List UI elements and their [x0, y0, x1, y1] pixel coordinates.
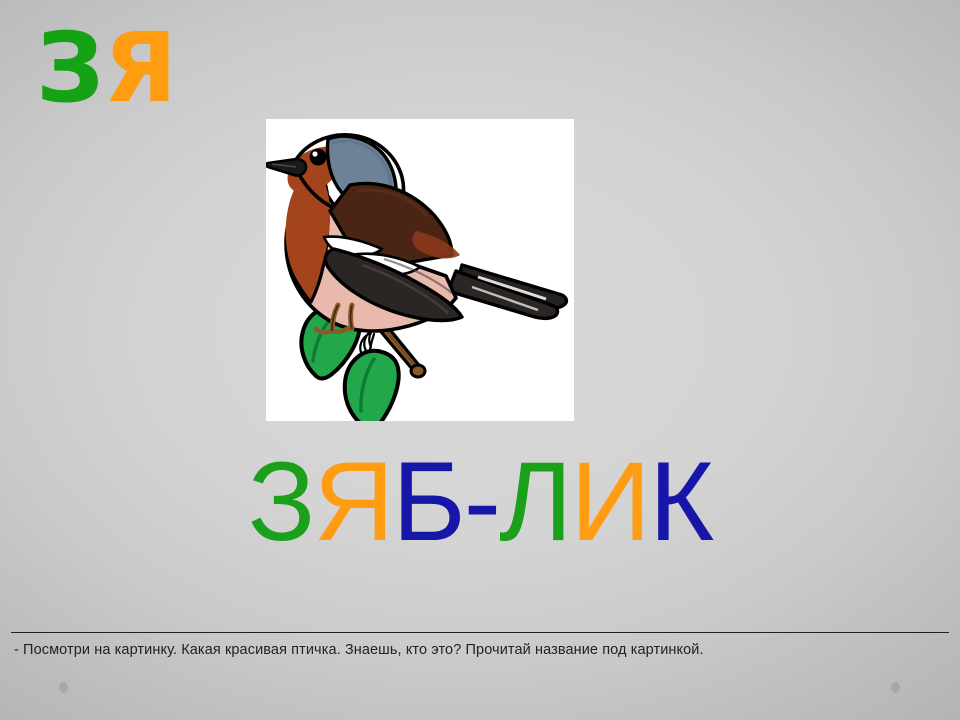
- word-letter-3: Б: [392, 443, 464, 561]
- leaf-lower: [345, 351, 399, 421]
- syllable-letter-1: З: [36, 18, 103, 118]
- instruction-caption: - Посмотри на картинку. Какая красивая п…: [14, 641, 944, 660]
- decorative-dot-right: [891, 682, 900, 693]
- syllable-heading: ЗЯ: [36, 18, 176, 118]
- bird-eye: [310, 149, 327, 166]
- picture-frame: [266, 119, 574, 421]
- word-letter-2: Я: [313, 443, 392, 561]
- word-letter-4: -: [464, 443, 499, 561]
- word-letter-5: Л: [499, 443, 571, 561]
- word-letter-1: З: [248, 443, 314, 561]
- bird-body: [267, 135, 567, 333]
- syllable-letter-2: Я: [103, 18, 176, 118]
- word-heading: ЗЯБ-ЛИК: [0, 443, 960, 561]
- horizontal-divider: [11, 632, 949, 633]
- decorative-dot-left: [59, 682, 68, 693]
- word-letter-6: И: [571, 443, 650, 561]
- word-letter-7: К: [649, 443, 712, 561]
- slide-canvas: ЗЯ: [0, 0, 960, 720]
- chaffinch-bird-illustration: [266, 119, 574, 421]
